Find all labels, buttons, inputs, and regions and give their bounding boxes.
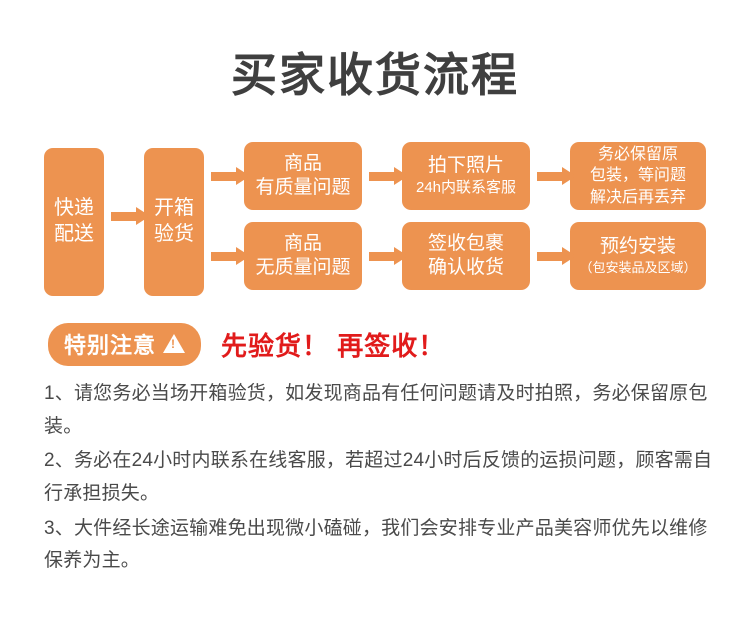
flow-step-unbox-inspect: 开箱 验货 (144, 142, 204, 302)
flow-arrow-slot-top (211, 142, 237, 210)
flow-box-take-photo-title: 拍下照片 (428, 154, 504, 178)
inspect-before-sign-highlight: 先验货！ 再签收！ (221, 326, 445, 363)
flow-box-book-installation-subtitle: （包安装品及区域） (579, 260, 696, 277)
flow-arrow-group-2 (362, 142, 402, 290)
flow-arrow-branch-split (204, 142, 244, 290)
flow-column-action: 拍下照片 24h内联系客服 签收包裹 确认收货 (402, 142, 530, 290)
flow-box-no-quality-issue-subtitle: 无质量问题 (255, 256, 350, 280)
flow-box-sign-package-title: 签收包裹 (428, 232, 504, 256)
flow-box-take-photo-subtitle: 24h内联系客服 (416, 178, 516, 198)
flow-box-unbox-inspect[interactable]: 开箱 验货 (144, 148, 204, 296)
flow-arrow-slot-bottom (211, 222, 237, 290)
arrow-right-icon (537, 172, 563, 181)
flow-box-unbox-line-2: 验货 (154, 222, 194, 248)
flow-step-delivery: 快递 配送 (44, 142, 104, 302)
note-item-2: 2、务必在24小时内联系在线客服，若超过24小时后反馈的运损问题，顾客需自行承担… (44, 445, 714, 510)
flow-arrow-delivery-to-unbox (104, 142, 144, 290)
flow-box-delivery[interactable]: 快递 配送 (44, 148, 104, 296)
flow-box-has-quality-issue-subtitle: 有质量问题 (255, 176, 350, 200)
flow-box-unbox-line-1: 开箱 (154, 196, 194, 222)
arrow-right-icon (369, 172, 395, 181)
flow-arrow-slot-bottom-2 (369, 222, 395, 290)
special-notice-label: 特别注意 (64, 328, 156, 360)
warning-triangle-icon (163, 334, 185, 353)
flow-box-book-installation[interactable]: 预约安装 （包安装品及区域） (570, 222, 706, 290)
flow-arrow-slot-top-3 (537, 142, 563, 210)
receiving-flow-diagram: 快递 配送 开箱 验货 商品 有质量问题 商品 无质量问题 (0, 142, 750, 302)
flow-box-no-quality-issue-title: 商品 (284, 232, 322, 256)
flow-column-quality-check: 商品 有质量问题 商品 无质量问题 (244, 142, 362, 290)
flow-arrow-group-3 (530, 142, 570, 290)
flow-box-sign-package-subtitle: 确认收货 (428, 256, 504, 280)
status-badge: 特别注意 (48, 323, 201, 366)
note-item-3: 3、大件经长途运输难免出现微小磕碰，我们会安排专业产品美容师优先以维修保养为主。 (44, 513, 714, 578)
note-item-1: 1、请您务必当场开箱验货，如发现商品有任何问题请及时拍照，务必保留原包装。 (44, 378, 714, 443)
flow-box-has-quality-issue[interactable]: 商品 有质量问题 (244, 142, 362, 210)
arrow-right-icon (111, 212, 137, 221)
flow-box-keep-packaging-line-2: 包装，等问题 (590, 165, 686, 186)
arrow-right-icon (211, 252, 237, 261)
flow-box-take-photo[interactable]: 拍下照片 24h内联系客服 (402, 142, 530, 210)
flow-column-result: 务必保留原 包装，等问题 解决后再丢弃 预约安装 （包安装品及区域） (570, 142, 706, 290)
flow-box-keep-packaging-line-1: 务必保留原 (598, 144, 678, 165)
flow-box-no-quality-issue[interactable]: 商品 无质量问题 (244, 222, 362, 290)
flow-box-keep-packaging-line-3: 解决后再丢弃 (590, 187, 686, 208)
page-title: 买家收货流程 (0, 0, 750, 98)
flow-box-delivery-line-1: 快递 (54, 196, 94, 222)
notes-list: 1、请您务必当场开箱验货，如发现商品有任何问题请及时拍照，务必保留原包装。 2、… (0, 378, 750, 578)
special-notice-row: 特别注意 先验货！ 再签收！ (0, 324, 750, 364)
arrow-right-icon (211, 172, 237, 181)
flow-arrow-slot-top-2 (369, 142, 395, 210)
flow-box-book-installation-title: 预约安装 (600, 235, 676, 259)
arrow-right-icon (369, 252, 395, 261)
flow-box-delivery-line-2: 配送 (54, 222, 94, 248)
flow-box-keep-packaging[interactable]: 务必保留原 包装，等问题 解决后再丢弃 (570, 142, 706, 210)
flow-box-has-quality-issue-title: 商品 (284, 152, 322, 176)
flow-arrow-slot-bottom-3 (537, 222, 563, 290)
flow-box-sign-package[interactable]: 签收包裹 确认收货 (402, 222, 530, 290)
arrow-right-icon (537, 252, 563, 261)
